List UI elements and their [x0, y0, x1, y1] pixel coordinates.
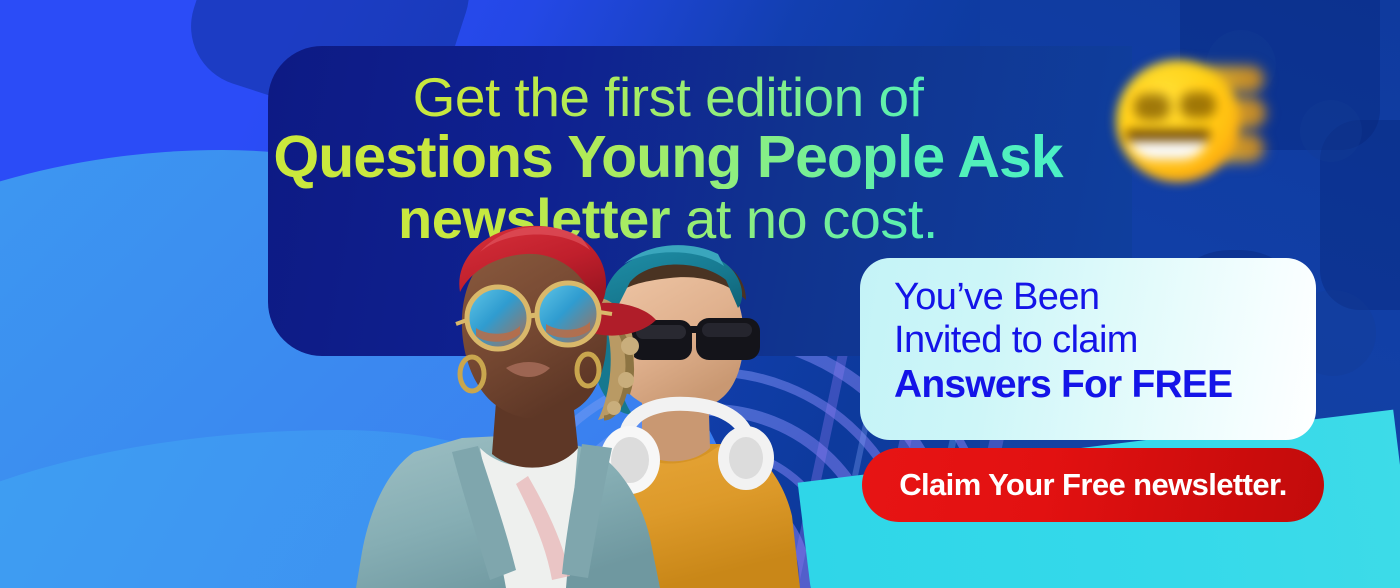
- invite-card: You’ve Been Invited to claim Answers For…: [860, 258, 1316, 440]
- grinning-face-emoji-icon: [1098, 52, 1266, 184]
- invite-line-2: Invited to claim: [894, 319, 1290, 362]
- teens-photo: [330, 208, 940, 588]
- promo-banner: Get the first edition of Questions Young…: [0, 0, 1400, 588]
- invite-line-3: Answers For FREE: [894, 363, 1290, 407]
- headline-line-2: Questions Young People Ask: [268, 126, 1068, 189]
- invite-line-1: You’ve Been: [894, 276, 1290, 319]
- headline-line-1: Get the first edition of: [268, 68, 1068, 126]
- background-shape-circle-2: [1300, 100, 1362, 162]
- claim-free-newsletter-button[interactable]: Claim Your Free newsletter.: [862, 448, 1324, 522]
- cta-label: Claim Your Free newsletter.: [899, 467, 1287, 503]
